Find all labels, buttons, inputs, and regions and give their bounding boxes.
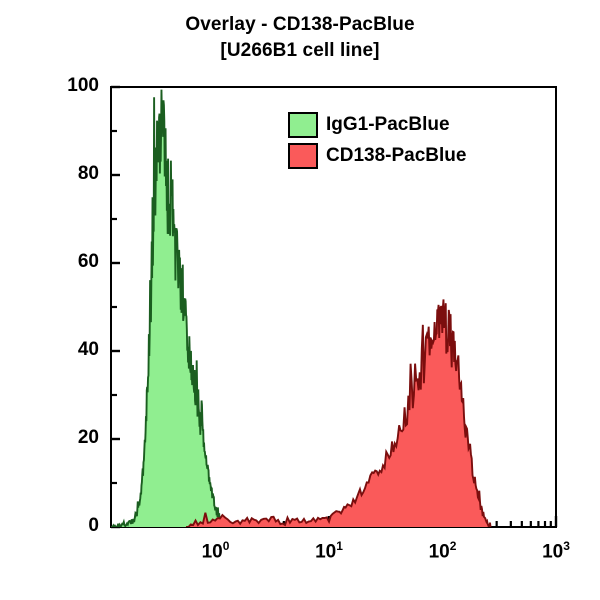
- flow-cytometry-histogram: Overlay - CD138-PacBlue [U266B1 cell lin…: [0, 0, 600, 600]
- legend-item-1[interactable]: CD138-PacBlue: [288, 140, 466, 171]
- legend-swatch-0: [288, 112, 318, 138]
- chart-canvas: [0, 0, 600, 600]
- legend-label-0: IgG1-PacBlue: [326, 114, 450, 136]
- trace-fill-cd138-pacblue: [186, 299, 491, 527]
- legend-label-1: CD138-PacBlue: [326, 145, 466, 167]
- legend-item-0[interactable]: IgG1-PacBlue: [288, 109, 466, 140]
- legend-swatch-1: [288, 143, 318, 169]
- legend: IgG1-PacBlueCD138-PacBlue: [288, 109, 466, 171]
